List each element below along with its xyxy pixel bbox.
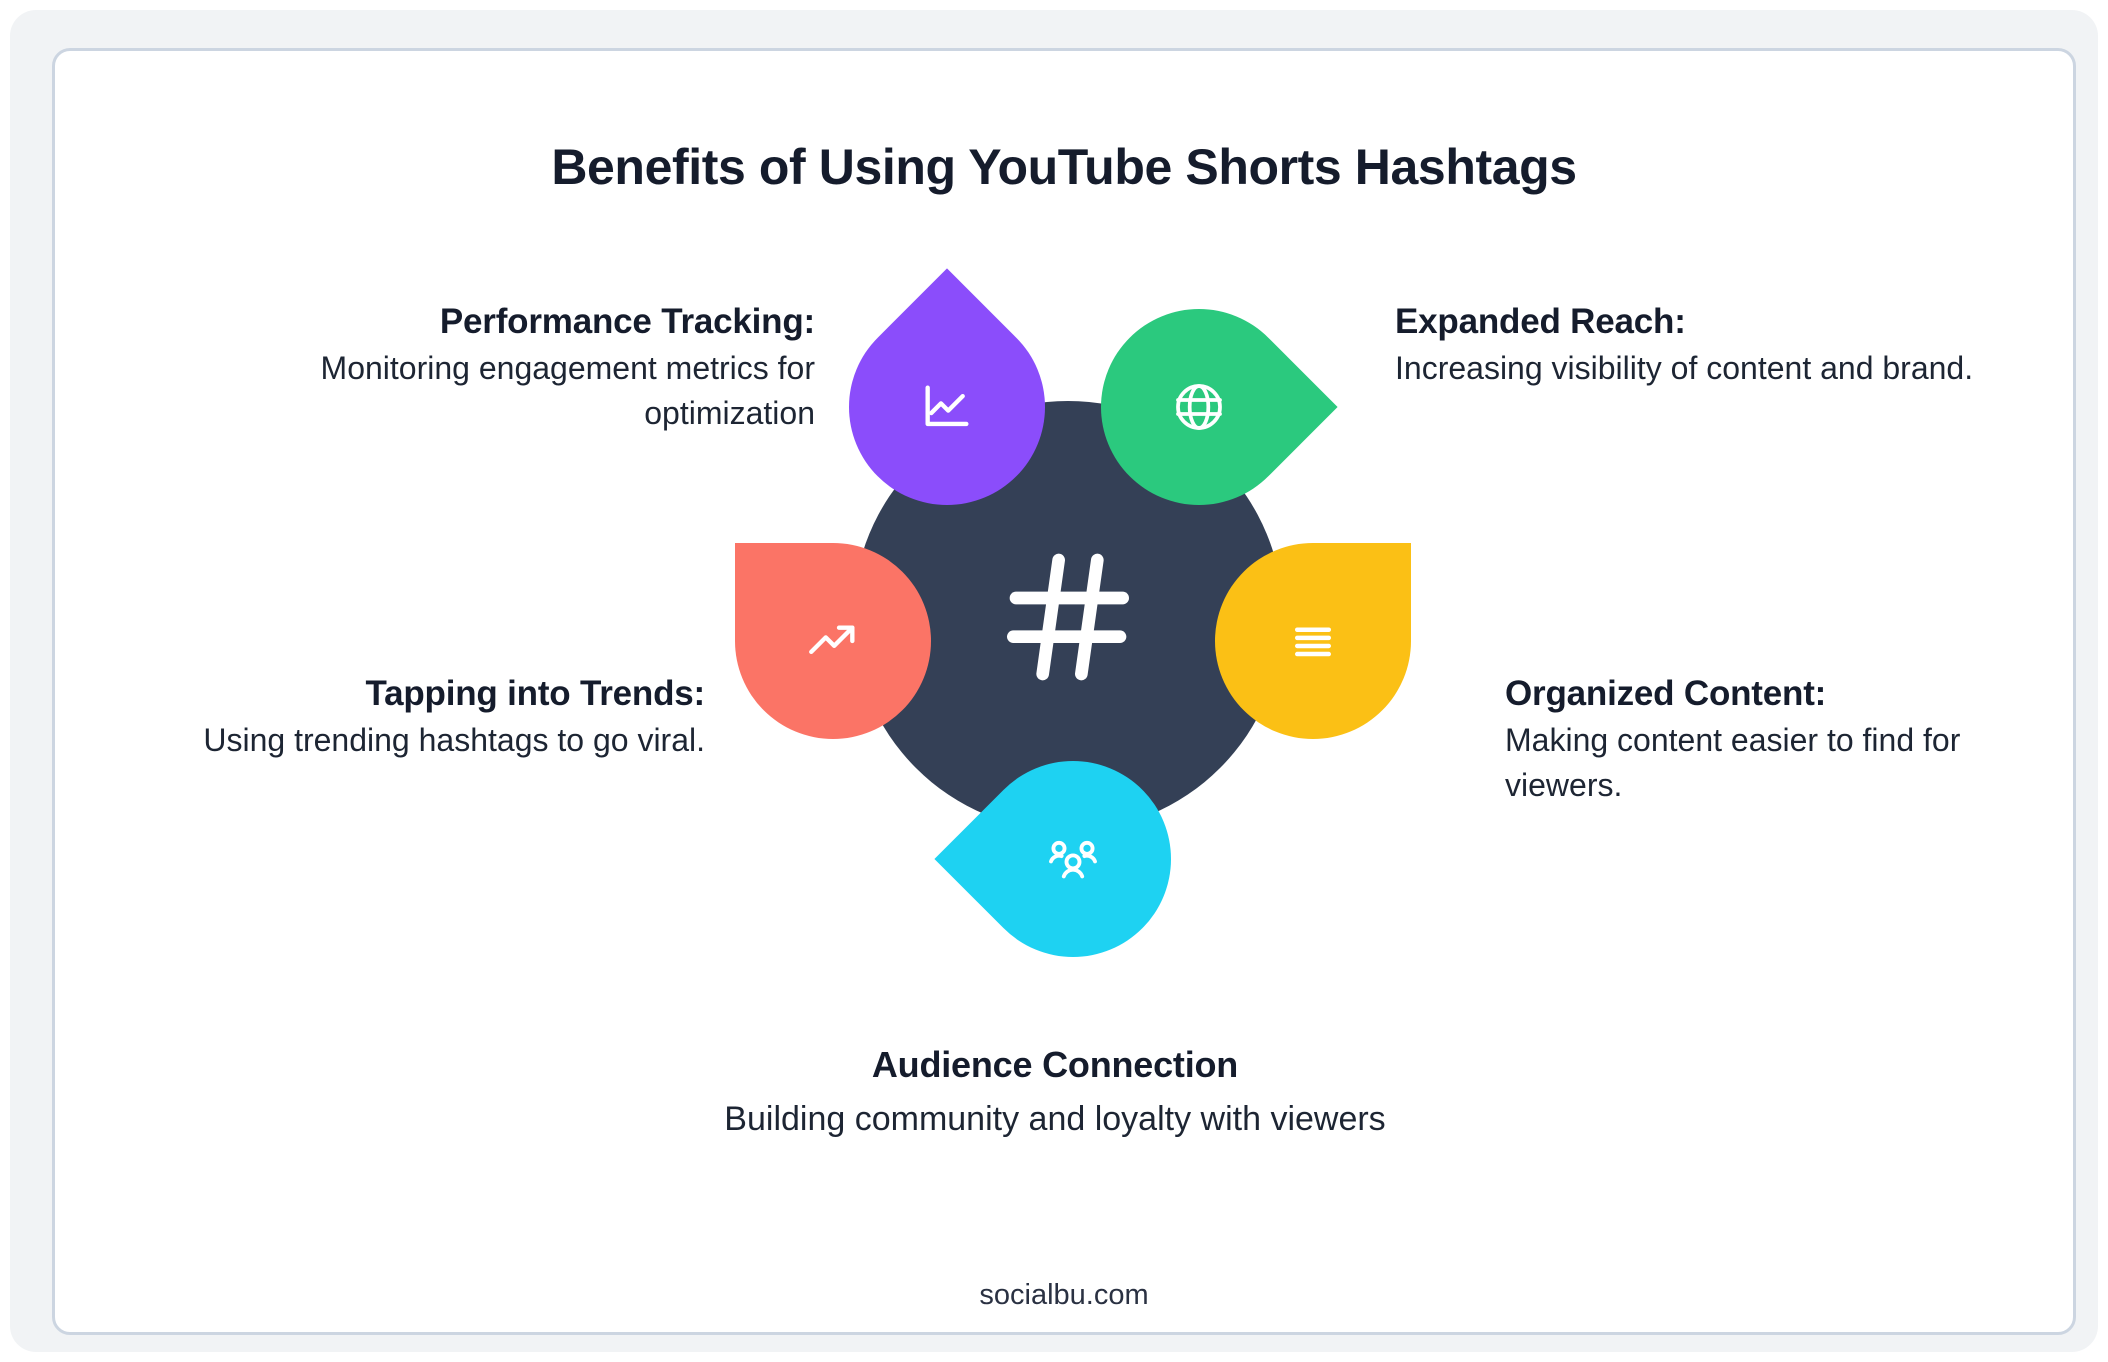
outer-panel: Benefits of Using YouTube Shorts Hashtag… [10,10,2098,1352]
benefit-text-tapping-into-trends: Tapping into Trends: Using trending hash… [165,671,705,763]
benefit-description: Monitoring engagement metrics for optimi… [205,346,815,437]
page-title: Benefits of Using YouTube Shorts Hashtag… [55,138,2073,196]
benefit-title: Tapping into Trends: [165,671,705,718]
benefit-text-audience-connection: Audience Connection Building community a… [655,1041,1455,1143]
benefit-title: Performance Tracking: [205,299,815,346]
line-chart-icon [918,378,976,436]
infographic-card: Benefits of Using YouTube Shorts Hashtag… [52,48,2076,1335]
list-lines-icon [1286,614,1340,668]
benefit-description: Increasing visibility of content and bra… [1395,346,2015,391]
hashtag-icon [988,536,1148,696]
users-group-icon [1044,830,1102,888]
trending-up-icon [804,612,862,670]
benefit-text-organized-content: Organized Content: Making content easier… [1505,671,2065,808]
globe-icon [1171,379,1227,435]
petal-organized-content[interactable] [1215,543,1411,739]
benefit-description: Making content easier to find for viewer… [1505,718,2065,809]
benefit-title: Organized Content: [1505,671,2065,718]
benefit-title: Expanded Reach: [1395,299,2015,346]
benefit-title: Audience Connection [655,1041,1455,1089]
benefit-description: Building community and loyalty with view… [655,1095,1455,1143]
benefit-description: Using trending hashtags to go viral. [165,718,705,763]
watermark: socialbu.com [55,1279,2073,1312]
benefit-text-performance-tracking: Performance Tracking: Monitoring engagem… [205,299,815,436]
benefit-text-expanded-reach: Expanded Reach: Increasing visibility of… [1395,299,2015,391]
petal-tapping-into-trends[interactable] [735,543,931,739]
